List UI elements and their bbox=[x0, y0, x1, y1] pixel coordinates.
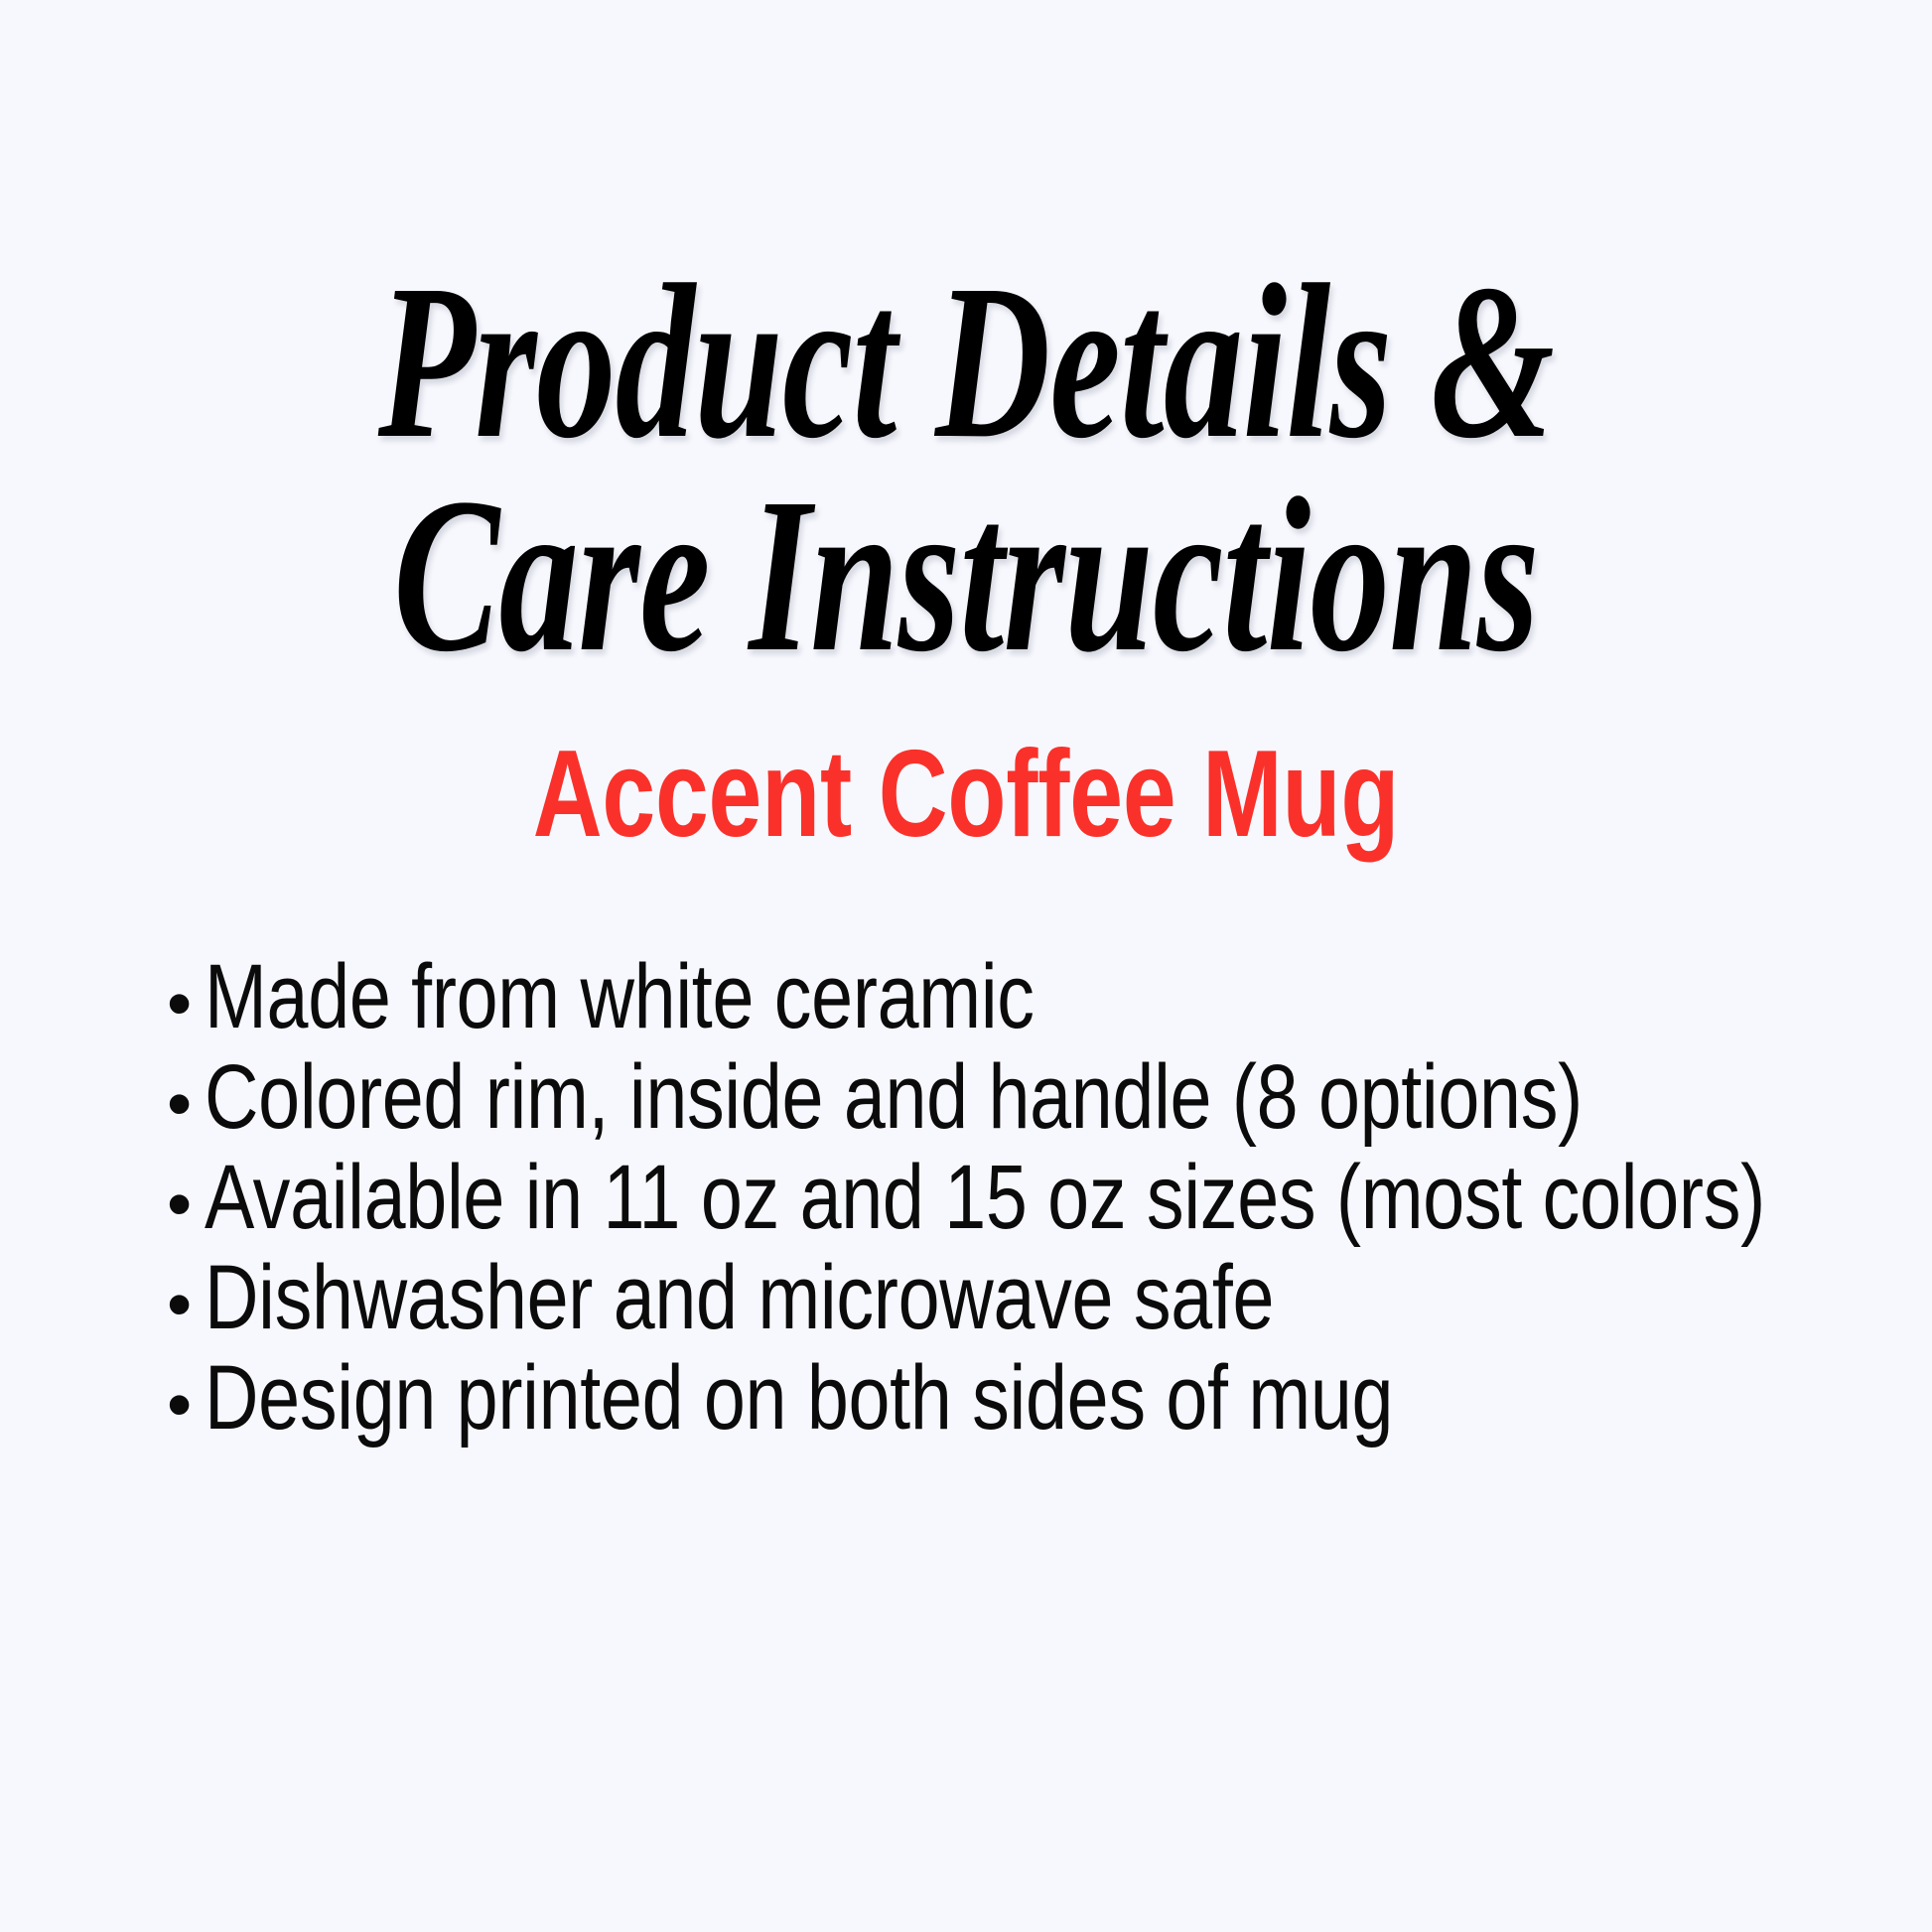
bullet-icon: • bbox=[149, 1369, 205, 1441]
bullet-icon: • bbox=[149, 1269, 205, 1340]
bullet-icon: • bbox=[149, 968, 205, 1039]
list-item: • Made from white ceramic bbox=[149, 951, 1857, 1051]
bullet-icon: • bbox=[149, 1169, 205, 1240]
list-item: • Dishwasher and microwave safe bbox=[149, 1252, 1857, 1352]
list-item-label: Available in 11 oz and 15 oz sizes (most… bbox=[205, 1152, 1765, 1243]
bullet-icon: • bbox=[149, 1068, 205, 1140]
list-item-label: Made from white ceramic bbox=[205, 951, 1559, 1042]
list-item-label: Design printed on both sides of mug bbox=[205, 1352, 1559, 1444]
page-title: Product Details & Care Instructions bbox=[0, 253, 1932, 686]
product-spec-list: • Made from white ceramic • Colored rim,… bbox=[149, 951, 1857, 1452]
list-item-label: Dishwasher and microwave safe bbox=[205, 1252, 1559, 1343]
product-name-subtitle: Accent Coffee Mug bbox=[212, 732, 1720, 857]
product-info-card: Product Details & Care Instructions Acce… bbox=[0, 0, 1932, 1932]
page-title-line-2: Care Instructions bbox=[270, 467, 1661, 686]
list-item: • Available in 11 oz and 15 oz sizes (mo… bbox=[149, 1152, 1857, 1252]
list-item-label: Colored rim, inside and handle (8 option… bbox=[205, 1051, 1583, 1143]
list-item: • Design printed on both sides of mug bbox=[149, 1352, 1857, 1452]
page-title-line-1: Product Details & bbox=[270, 253, 1661, 473]
list-item: • Colored rim, inside and handle (8 opti… bbox=[149, 1051, 1857, 1152]
